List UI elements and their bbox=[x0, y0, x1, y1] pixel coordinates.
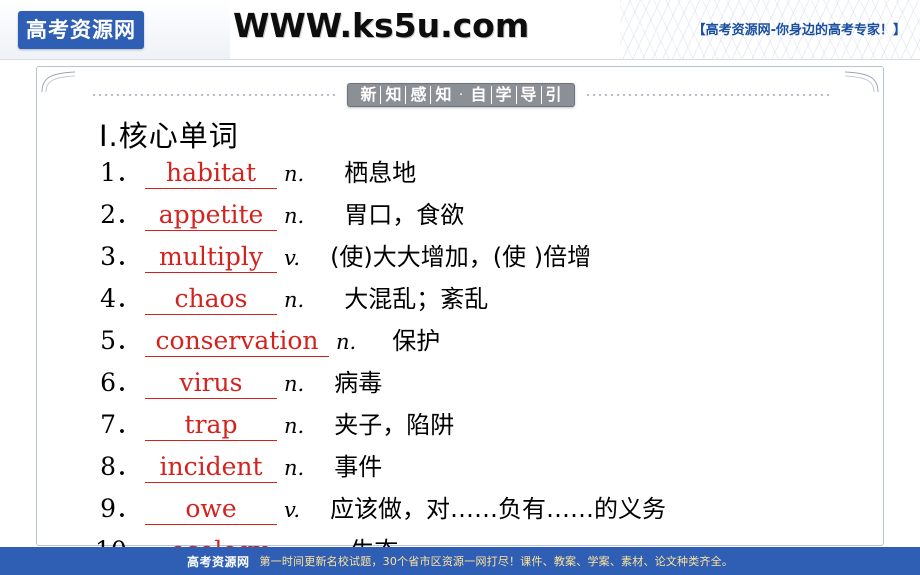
word-answer-blank: incident bbox=[145, 453, 277, 483]
word-pos: v. bbox=[277, 498, 300, 522]
word-row: 9． owe v. 应该做，对……负有……的义务 bbox=[95, 489, 875, 531]
word-pos: n. bbox=[277, 204, 304, 228]
band-char-3: 感 bbox=[406, 86, 431, 104]
word-pos: n. bbox=[277, 162, 304, 186]
band-char-5: 自 bbox=[467, 86, 492, 104]
top-banner: 高考资源网 WWW.ks5u.com 【高考资源网-你身边的高考专家！】 bbox=[0, 0, 920, 60]
band-dotted-line-right bbox=[585, 94, 831, 96]
section-band: 新 知 感 知 · 自 学 导 引 bbox=[91, 81, 831, 109]
word-meaning: 栖息地 bbox=[344, 153, 416, 188]
corner-ornament-top-left bbox=[41, 71, 77, 93]
word-answer-blank: virus bbox=[145, 369, 277, 399]
page-title: Ⅰ.核心单词 bbox=[99, 113, 239, 155]
word-meaning: 保护 bbox=[392, 321, 440, 356]
word-pos: v. bbox=[277, 246, 300, 270]
word-number: 6． bbox=[95, 363, 145, 399]
word-number: 1． bbox=[95, 153, 145, 189]
word-pos: n. bbox=[277, 456, 304, 480]
word-answer-blank: habitat bbox=[145, 159, 277, 189]
word-meaning: 应该做，对……负有……的义务 bbox=[330, 489, 666, 524]
band-char-4: 知 bbox=[431, 86, 455, 104]
word-row: 4． chaos n. 大混乱；紊乱 bbox=[95, 279, 875, 321]
word-number: 7． bbox=[95, 405, 145, 441]
word-answer-blank: chaos bbox=[145, 285, 277, 315]
word-number: 5． bbox=[95, 321, 145, 357]
word-answer-blank: appetite bbox=[145, 201, 277, 231]
word-pos: n. bbox=[329, 330, 356, 354]
word-number: 9． bbox=[95, 489, 145, 525]
word-pos: n. bbox=[277, 288, 304, 312]
site-logo-text: 高考资源网 bbox=[26, 20, 136, 41]
word-answer-blank: conservation bbox=[145, 327, 329, 357]
band-title: 新 知 感 知 · 自 学 导 引 bbox=[347, 83, 574, 107]
band-char-7: 导 bbox=[517, 86, 542, 104]
band-dotted-line-left bbox=[91, 94, 337, 96]
word-number: 8． bbox=[95, 447, 145, 483]
word-meaning: 病毒 bbox=[334, 363, 382, 398]
slide: 高考资源网 WWW.ks5u.com 【高考资源网-你身边的高考专家！】 新 知… bbox=[0, 0, 920, 575]
word-answer-blank: multiply bbox=[145, 243, 277, 273]
band-separator: · bbox=[456, 86, 467, 104]
band-char-6: 学 bbox=[492, 86, 517, 104]
word-list: 1． habitat n. 栖息地 2． appetite n. 胃口，食欲 3… bbox=[95, 153, 875, 573]
site-url-text: WWW.ks5u.com bbox=[233, 6, 529, 45]
footer-logo-text: 高考资源网 bbox=[187, 553, 250, 570]
word-row: 8． incident n. 事件 bbox=[95, 447, 875, 489]
word-answer-blank: owe bbox=[145, 495, 277, 525]
corner-ornament-top-right bbox=[843, 71, 879, 93]
word-row: 7． trap n. 夹子，陷阱 bbox=[95, 405, 875, 447]
word-answer-blank: trap bbox=[145, 411, 277, 441]
content-frame: 新 知 感 知 · 自 学 导 引 Ⅰ.核心单词 1． habitat n. 栖… bbox=[36, 66, 884, 546]
site-tagline: 【高考资源网-你身边的高考专家！】 bbox=[693, 19, 906, 38]
word-row: 3． multiply v. (使)大大增加，(使 )倍增 bbox=[95, 237, 875, 279]
band-char-8: 引 bbox=[542, 86, 566, 104]
band-char-1: 新 bbox=[356, 86, 381, 104]
word-meaning: 胃口，食欲 bbox=[344, 195, 464, 230]
word-row: 5． conservation n. 保护 bbox=[95, 321, 875, 363]
footer-bar: 高考资源网 第一时间更新名校试题，30个省市区资源一网打尽！课件、教案、学案、素… bbox=[0, 547, 920, 575]
band-char-2: 知 bbox=[381, 86, 406, 104]
word-number: 4． bbox=[95, 279, 145, 315]
footer-text: 第一时间更新名校试题，30个省市区资源一网打尽！课件、教案、学案、素材、论文种类… bbox=[259, 553, 733, 569]
word-number: 2． bbox=[95, 195, 145, 231]
word-row: 6． virus n. 病毒 bbox=[95, 363, 875, 405]
word-row: 1． habitat n. 栖息地 bbox=[95, 153, 875, 195]
word-row: 2． appetite n. 胃口，食欲 bbox=[95, 195, 875, 237]
word-number: 3． bbox=[95, 237, 145, 273]
site-logo: 高考资源网 bbox=[18, 11, 144, 49]
word-meaning: 夹子，陷阱 bbox=[334, 405, 454, 440]
word-pos: n. bbox=[277, 372, 304, 396]
word-meaning: 事件 bbox=[334, 447, 382, 482]
word-pos: n. bbox=[277, 414, 304, 438]
word-meaning: (使)大大增加，(使 )倍增 bbox=[330, 237, 591, 272]
word-meaning: 大混乱；紊乱 bbox=[344, 279, 488, 314]
